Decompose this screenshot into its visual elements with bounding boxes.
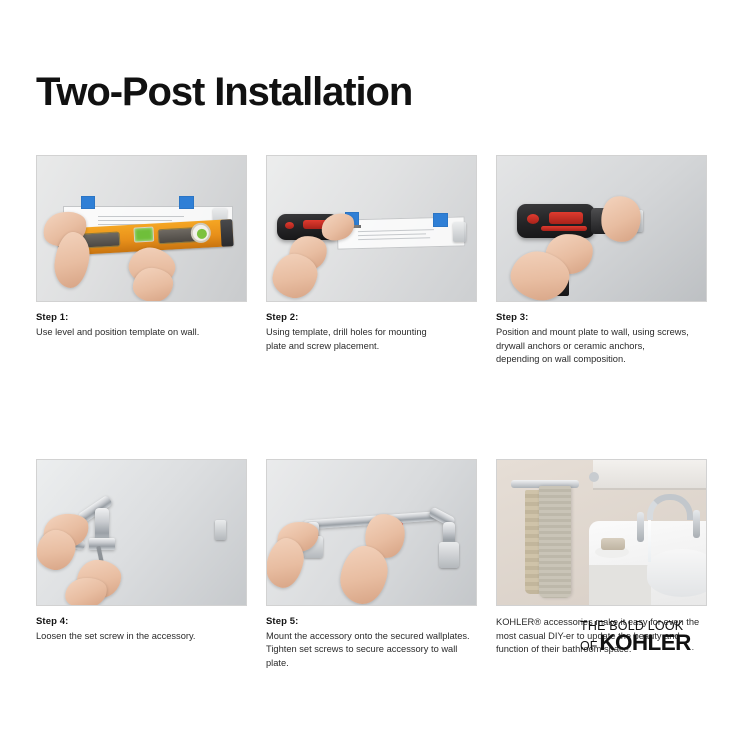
step-1-heading: Step 1:: [36, 312, 247, 323]
towel: [539, 486, 571, 598]
step-1-photo: [36, 155, 247, 302]
wall-plate: [453, 222, 466, 242]
sink-basin: [647, 549, 707, 597]
step-3-line-3: depending on wall composition.: [496, 353, 707, 367]
step-1-caption: Step 1: Use level and position template …: [36, 312, 247, 340]
towel-ring-hook: [589, 472, 599, 482]
cordless-drill: [517, 204, 595, 238]
step-3-photo: [496, 155, 707, 302]
step-4-caption: Step 4: Loosen the set screw in the acce…: [36, 616, 247, 644]
step-5-heading: Step 5:: [266, 616, 477, 627]
blue-tape-left: [81, 196, 95, 209]
step-card-3: Step 3: Position and mount plate to wall…: [496, 155, 707, 367]
logo-registered-mark: .: [692, 638, 694, 658]
step-card-1: Step 1: Use level and position template …: [36, 155, 247, 367]
soap-bar: [601, 538, 625, 550]
steps-grid: Step 1: Use level and position template …: [36, 155, 700, 671]
page-title: Two-Post Installation: [36, 72, 412, 112]
logo-wordmark: KOHLER: [599, 633, 690, 653]
step-card-2: Step 2: Using template, drill holes for …: [266, 155, 477, 367]
step-4-line-1: Loosen the set screw in the accessory.: [36, 630, 247, 644]
step-2-photo: [266, 155, 477, 302]
step-5-line-1: Mount the accessory onto the secured wal…: [266, 630, 477, 644]
step-2-caption: Step 2: Using template, drill holes for …: [266, 312, 477, 353]
logo-lockup: OF KOHLER .: [580, 633, 700, 658]
mounted-wallplate: [215, 520, 226, 540]
level-vial: [133, 227, 154, 243]
step-card-5: Step 5: Mount the accessory onto the sec…: [266, 459, 477, 671]
mirror: [593, 460, 706, 490]
step-5-photo: [266, 459, 477, 606]
step-2-line-1: Using template, drill holes for mounting: [266, 326, 477, 340]
step-5-line-2: Tighten set screws to secure accessory t…: [266, 643, 477, 670]
faucet-handle-right: [693, 510, 700, 538]
blue-tape-right: [433, 213, 448, 227]
vanity-cabinet: [589, 565, 651, 605]
water-stream: [648, 520, 651, 562]
step-3-line-2: drywall anchors or ceramic anchors,: [496, 340, 707, 354]
step-5-caption: Step 5: Mount the accessory onto the sec…: [266, 616, 477, 671]
faucet-handle-left: [637, 512, 644, 542]
step-3-line-1: Position and mount plate to wall, using …: [496, 326, 707, 340]
kohler-logo: THE BOLD LOOK OF KOHLER .: [580, 619, 700, 658]
step-2-heading: Step 2:: [266, 312, 477, 323]
step-3-heading: Step 3:: [496, 312, 707, 323]
closing-photo: [496, 459, 707, 606]
step-1-line-1: Use level and position template on wall.: [36, 326, 247, 340]
step-2-line-2: plate and screw placement.: [266, 340, 477, 354]
step-4-heading: Step 4:: [36, 616, 247, 627]
step-card-4: Step 4: Loosen the set screw in the acce…: [36, 459, 247, 671]
towel-bar-base: [89, 538, 115, 550]
blue-tape-right: [179, 196, 194, 209]
level-round-vial: [190, 222, 211, 243]
installation-sheet: Two-Post Installation: [0, 0, 736, 736]
wallplate-right: [439, 542, 459, 568]
step-4-photo: [36, 459, 247, 606]
logo-of: OF: [580, 636, 597, 656]
step-3-caption: Step 3: Position and mount plate to wall…: [496, 312, 707, 367]
